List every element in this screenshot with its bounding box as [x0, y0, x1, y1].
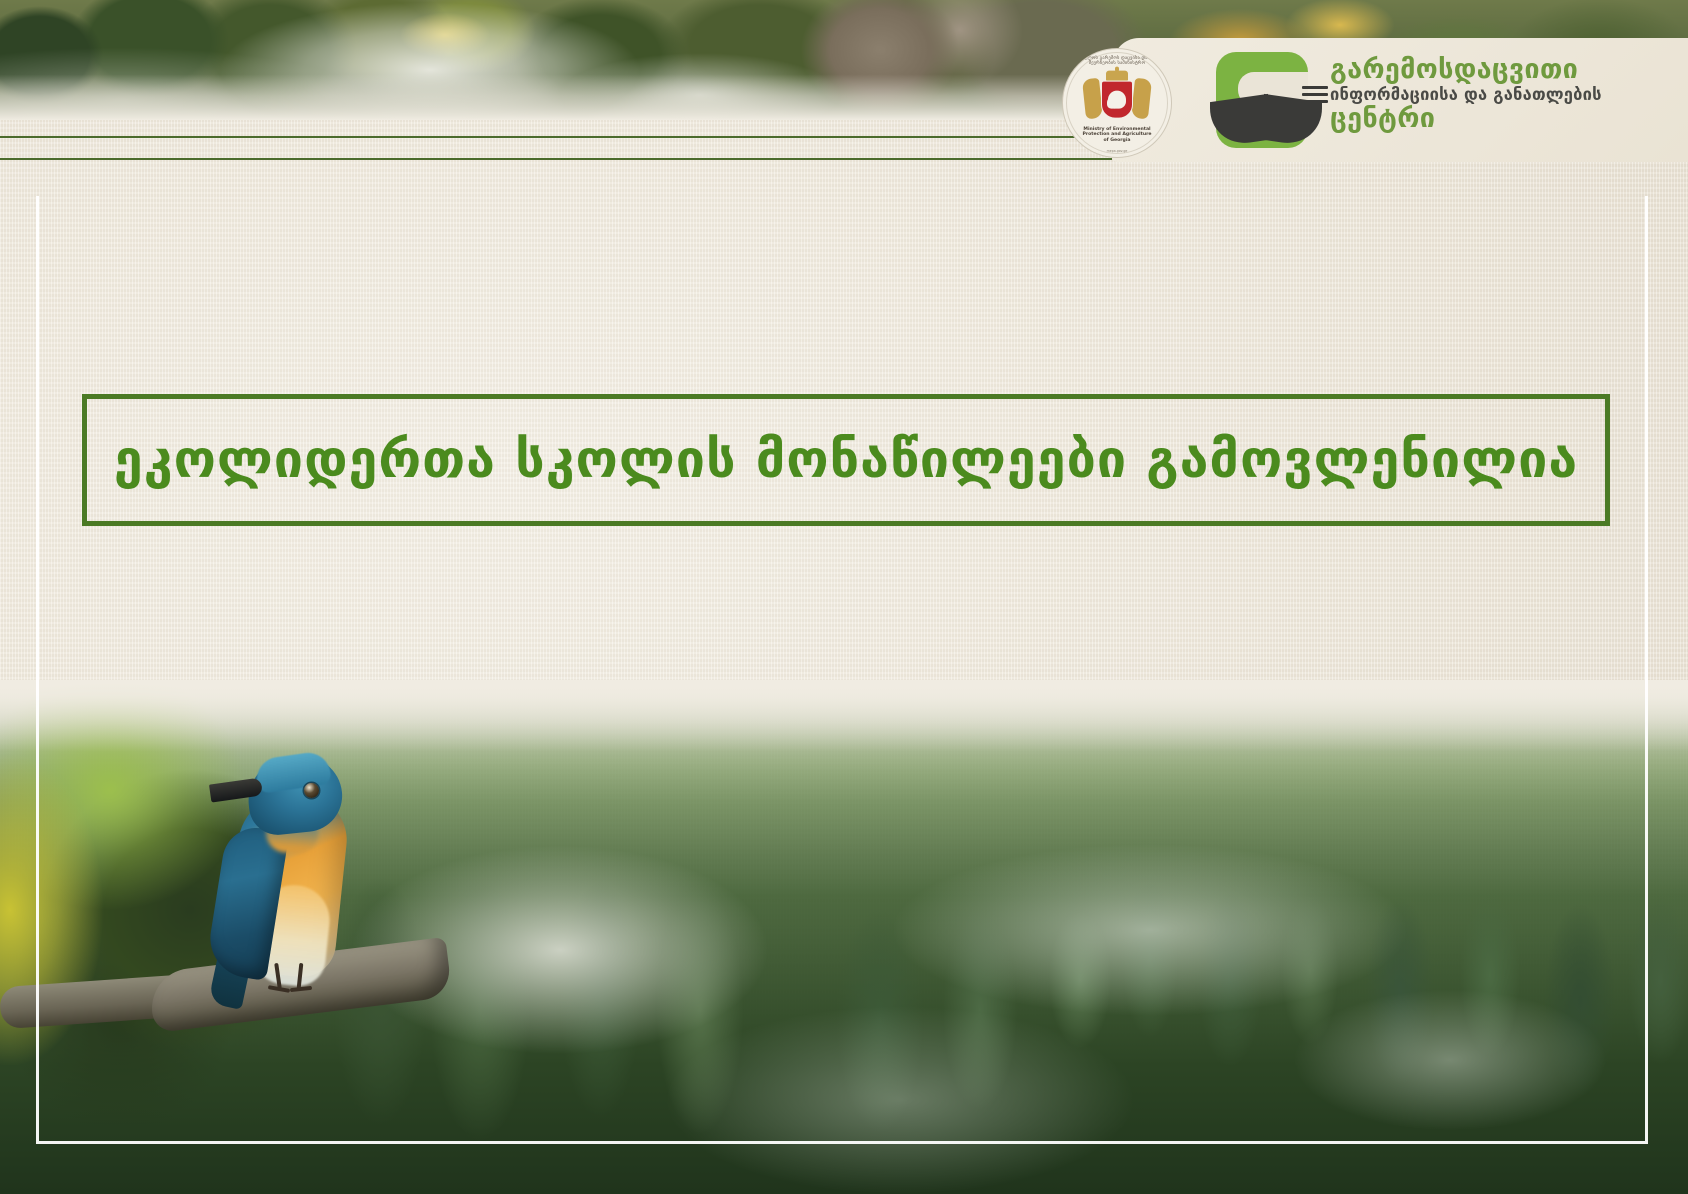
seal-arc-text: საქართველოს გარემოს დაცვისა და სოფლის მე… [1063, 56, 1171, 66]
bird-legs [270, 963, 316, 1003]
eiec-bars-icon [1302, 86, 1328, 108]
seal-name-line3: of Georgia [1103, 138, 1130, 143]
shield-icon [1101, 81, 1133, 119]
eiec-text-line3: ცენტრი [1330, 104, 1680, 134]
eiec-text-line1: გარემოსდაცვითი [1330, 55, 1680, 85]
eiec-text-line2: ინფორმაციისა და განათლების [1330, 85, 1680, 104]
bird-eye [304, 783, 319, 798]
title-box: ეკოლიდერთა სკოლის მონაწილეები გამოვლენილ… [82, 394, 1610, 526]
lion-left-icon [1082, 78, 1103, 120]
poster-canvas: საქართველოს გარემოს დაცვისა და სოფლის მე… [0, 0, 1688, 1194]
bird-illustration [196, 735, 366, 995]
eiec-logo-icon [1216, 52, 1308, 150]
crown-icon [1106, 71, 1128, 81]
eiec-logo-text: გარემოსდაცვითი ინფორმაციისა და განათლები… [1330, 55, 1680, 134]
seal-name-line2: Protection and Agriculture [1083, 132, 1152, 137]
lion-right-icon [1131, 78, 1152, 120]
bottom-photo-band [0, 680, 1688, 1194]
seal-coat-of-arms [1084, 71, 1150, 131]
saint-george-rider-icon [1108, 91, 1126, 109]
book-page-left-icon [1210, 94, 1268, 148]
header-rule-bottom [0, 158, 1112, 160]
seal-ministry-name: Ministry of Environmental Protection and… [1063, 127, 1171, 143]
seal-url: mepa.gov.ge [1063, 149, 1171, 153]
page-title: ეკოლიდერთა სკოლის მონაწილეები გამოვლენილ… [114, 428, 1578, 492]
header-rule-top [0, 136, 1112, 138]
ministry-seal-icon: საქართველოს გარემოს დაცვისა და სოფლის მე… [1062, 48, 1172, 158]
